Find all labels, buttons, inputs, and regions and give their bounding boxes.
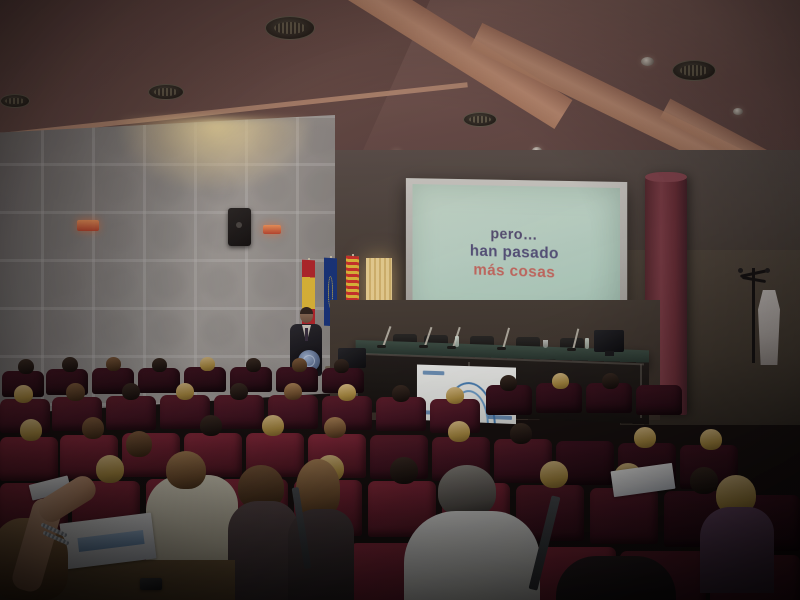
microphone-base (377, 345, 386, 348)
audience-head (510, 423, 532, 444)
audience-head (292, 358, 307, 372)
audience-head (448, 421, 470, 442)
microphone-base (567, 348, 576, 351)
column-capital (645, 172, 687, 182)
audience-head (634, 427, 656, 448)
audience-head (122, 383, 140, 400)
audience-head (20, 419, 42, 441)
ceiling-vent-icon (672, 60, 716, 81)
microphone-base (497, 347, 506, 350)
coat-rack-knob (738, 268, 743, 273)
audience-head (392, 385, 410, 402)
ceiling-downlight-icon (733, 108, 743, 115)
water-bottle (585, 338, 589, 349)
drinking-glass (543, 340, 548, 348)
attendee-white-shirt (404, 511, 540, 600)
audience-head (446, 387, 464, 404)
seat (0, 437, 58, 481)
exit-sign-icon (77, 220, 99, 231)
audience-head (500, 375, 517, 391)
slide-line-1: pero… (490, 226, 537, 245)
water-bottle (455, 336, 459, 347)
audience-head (200, 357, 215, 371)
presenter-hair (300, 307, 313, 314)
audience-head (230, 383, 248, 400)
audience-head (66, 383, 85, 401)
audience-head (552, 373, 569, 389)
seat (376, 397, 426, 431)
mobile-phone (140, 578, 162, 590)
ceiling-vent-icon (0, 94, 30, 108)
audience-head (262, 415, 284, 436)
wall-speaker-icon (228, 208, 251, 246)
coat-rack (752, 268, 755, 363)
audience-head (284, 383, 302, 400)
audience-head (324, 417, 346, 438)
seat (106, 396, 156, 430)
coat-rack-knob (765, 268, 770, 273)
audience-head (338, 384, 356, 401)
audience-head (246, 358, 261, 372)
audience-head (602, 373, 619, 389)
audience-head (176, 383, 194, 400)
auditorium-photo: pero… han pasado más cosas (0, 0, 800, 600)
foreground-attendee (556, 556, 676, 600)
desk-monitor (594, 330, 624, 352)
audience-head (18, 359, 34, 374)
attendee-shoulders (700, 507, 774, 593)
ceiling-vent-icon (463, 112, 497, 127)
audience-head (390, 457, 418, 484)
attendee-head (438, 465, 496, 517)
audience-head (82, 417, 104, 439)
seat (590, 488, 658, 544)
attendee-head (166, 451, 206, 489)
slide-line-3: más cosas (473, 262, 555, 284)
audience-head (14, 385, 33, 403)
ceiling-downlight-icon (641, 57, 654, 66)
audience-head (62, 357, 78, 372)
presenter-tie (305, 328, 308, 341)
ceiling-vent-icon (148, 84, 184, 100)
wall-uplight-glow (120, 118, 310, 190)
seat (636, 385, 682, 415)
audience-head (200, 415, 222, 436)
exit-sign-icon (263, 225, 281, 234)
hanging-garment (758, 290, 780, 365)
audience-head (540, 461, 568, 488)
microphone-base (419, 345, 428, 348)
audience-head (126, 431, 152, 457)
audience-head (96, 455, 124, 483)
audience-head (334, 359, 349, 373)
ceiling-vent-icon (265, 16, 315, 40)
audience-head (690, 467, 718, 494)
audience-head (152, 358, 167, 372)
audience-head (106, 357, 121, 371)
audience-head (700, 429, 722, 450)
